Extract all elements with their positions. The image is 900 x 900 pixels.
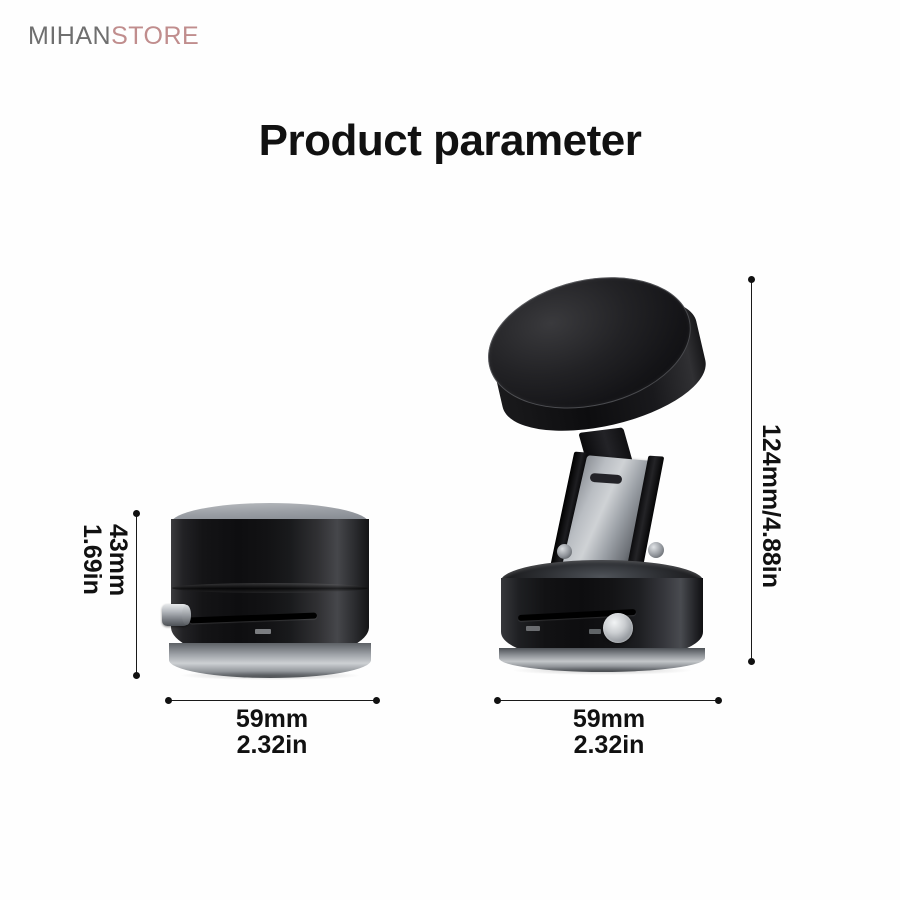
dimension-value-in: 2.32in <box>574 731 645 759</box>
dimension-line-folded-height <box>136 513 137 676</box>
hinge-pivot-right <box>648 542 664 558</box>
dimension-value-mm: 43mm <box>104 524 132 596</box>
folded-stand-port-marking-icon <box>255 629 271 634</box>
dimension-endpoint-dot <box>373 697 380 704</box>
dimension-line-unfolded-width <box>497 700 718 701</box>
folded-stand-seam <box>172 583 368 593</box>
dimension-endpoint-dot <box>133 672 140 679</box>
dimension-label-folded-width: 59mm2.32in <box>172 706 372 758</box>
dimension-value-in: 2.32in <box>237 731 308 759</box>
unfolded-stand-knob-marking-icon <box>589 629 601 634</box>
dimension-endpoint-dot <box>165 697 172 704</box>
brand-logo-secondary: STORE <box>111 22 199 50</box>
dimension-endpoint-dot <box>494 697 501 704</box>
product-parameter-page: MIHANSTORE Product parameter <box>0 0 900 900</box>
brand-logo-primary: MIHAN <box>28 22 111 50</box>
dimension-endpoint-dot <box>133 510 140 517</box>
folded-stand-shadow <box>181 671 359 680</box>
page-title: Product parameter <box>0 116 900 166</box>
dimension-endpoint-dot <box>748 276 755 283</box>
dimension-label-folded-height: 43mm1.69in <box>79 524 131 596</box>
unfolded-stand-knob <box>603 613 633 643</box>
dimension-endpoint-dot <box>748 658 755 665</box>
brand-logo: MIHANSTORE <box>28 22 199 51</box>
hinge-pivot-left <box>557 544 572 559</box>
unfolded-stand-shadow <box>513 666 691 675</box>
product-image-unfolded-stand <box>485 272 735 672</box>
dimension-label-unfolded-width: 59mm2.32in <box>504 706 714 758</box>
dimension-line-folded-width <box>168 700 376 701</box>
dimension-endpoint-dot <box>715 697 722 704</box>
dimension-value-in: 1.69in <box>78 524 106 595</box>
dimension-line-unfolded-height <box>751 279 752 662</box>
dimension-value-mm: 59mm <box>573 705 645 733</box>
dimension-label-unfolded-height: 124mm/4.88in <box>758 424 784 588</box>
product-image-folded-stand <box>163 503 378 678</box>
unfolded-stand-port-marking-icon <box>526 626 540 631</box>
folded-stand-knob <box>162 604 190 626</box>
dimension-value-mm: 59mm <box>236 705 308 733</box>
